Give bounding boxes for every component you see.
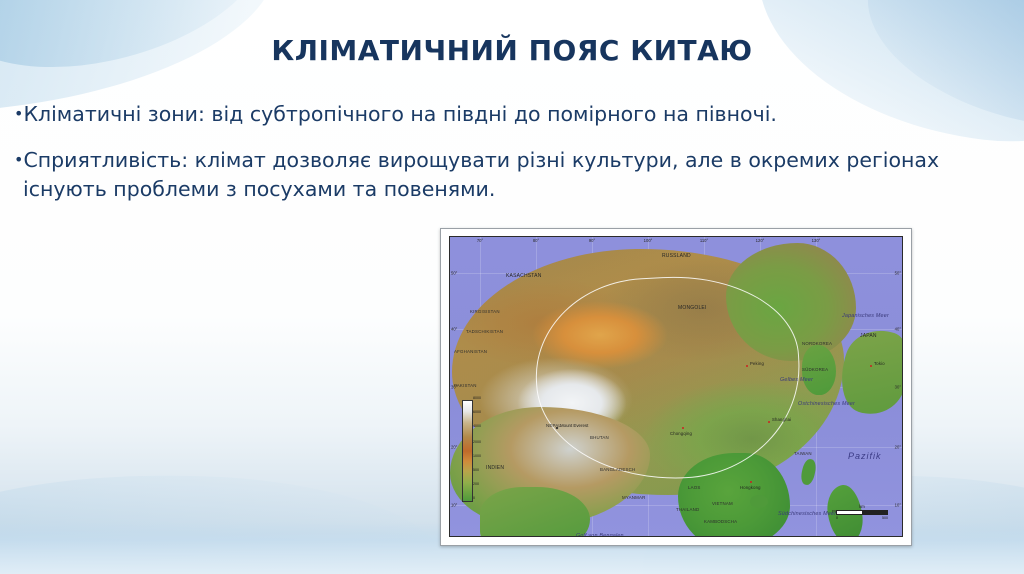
city-label-hongkong: Hongkong [740,485,761,490]
map-image-frame: 70° 80° 90° 100° 110° 120° 130° 50° 40° … [440,228,912,546]
scale-tick: 0 [473,496,475,500]
country-label-russia: RUSSLAND [662,253,691,259]
country-label-bhutan: BHUTAN [590,435,609,440]
sea-label-yellow-sea: Gelbes Meer [780,377,813,383]
lat-tick-label-right: 40° [895,327,901,332]
lat-tick-label-right: 30° [895,385,901,390]
map-canvas: 70° 80° 90° 100° 110° 120° 130° 50° 40° … [450,237,902,536]
country-label-laos: LAOS [688,485,701,490]
sea-label-bay-of-bengal: Golf von Bengalen [576,533,624,536]
peak-label-mount-everest: Mount Everest [560,423,588,428]
lon-tick-label: 100° [644,238,653,243]
scale-tick: 4000 [473,424,481,428]
city-dot-chongqing [682,427,684,429]
lon-tick-label: 130° [812,238,821,243]
country-label-kazakhstan: KASACHSTAN [506,273,542,279]
distance-scale: km 0 500 [836,504,888,520]
sea-label-pacific: Pazifik [848,451,882,461]
scale-tick: 2000 [473,440,481,444]
lat-tick-label: 10° [451,503,457,508]
slide: КЛІМАТИЧНИЙ ПОЯС КИТАЮ •Кліматичні зони:… [0,0,1024,574]
distance-scale-ends: 0 500 [836,516,888,520]
city-label-peking: Peking [750,361,764,366]
country-label-mongolia: MONGOLEI [678,305,707,311]
lon-tick-label: 110° [700,238,708,243]
country-label-cambodia: KAMBODSCHA [704,519,737,524]
country-label-south-korea: SÜDKOREA [802,367,828,372]
lat-tick-label-right: 10° [895,503,901,508]
scale-tick: 200 [473,482,479,486]
elevation-scale-ticks: 8000 6000 4000 2000 1000 500 200 0 [473,402,495,502]
city-label-chongqing: Chongqing [670,431,692,436]
sea-label-east-china-sea: Ostchinesisches Meer [798,401,855,407]
city-dot-hongkong [750,481,752,483]
distance-scale-unit: km [836,504,888,509]
country-label-nepal: NEPAL [546,423,561,428]
lat-tick-label: 20° [451,445,457,450]
bullet-list: •Кліматичні зони: від субтропічного на п… [14,100,1010,221]
country-label-thailand: THAILAND [676,507,699,512]
country-label-afghanistan: AFGHANISTAN [454,349,487,354]
landmass-hainan [750,495,768,508]
list-item: •Кліматичні зони: від субтропічного на п… [14,100,1010,130]
lon-tick-label: 90° [589,238,595,243]
city-label-shanghai: Shanghai [772,417,791,422]
country-label-vietnam: VIETNAM [712,501,733,506]
country-label-japan: JAPAN [860,333,877,339]
elevation-scale-bar [462,400,473,502]
city-dot-shanghai [768,421,770,423]
scale-tick: 8000 [473,396,481,400]
lat-tick-label-right: 20° [895,445,901,450]
sea-label-sea-of-japan: Japanisches Meer [842,313,889,319]
list-item-text: Кліматичні зони: від субтропічного на пі… [23,102,776,126]
lon-tick-label: 80° [533,238,539,243]
distance-scale-bar [836,510,888,515]
lat-tick-label-right: 50° [895,271,901,276]
scale-tick: 6000 [473,410,481,414]
city-dot-peking [746,365,748,367]
lon-tick-label: 70° [477,238,483,243]
map-image: 70° 80° 90° 100° 110° 120° 130° 50° 40° … [449,236,903,537]
list-item: •Сприятливість: клімат дозволяє вирощува… [14,146,1010,205]
city-label-tokio: Tokio [874,361,885,366]
country-label-bangladesh: BANGLADESCH [600,467,635,472]
distance-tick-end: 500 [882,516,888,520]
country-label-taiwan: TAIWAN [794,451,812,456]
lat-tick-label: 40° [451,327,457,332]
sea-label-south-china-sea: Südchinesisches Meer [778,511,836,517]
city-dot-tokio [870,365,872,367]
distance-tick-start: 0 [836,516,838,520]
scale-tick: 500 [473,468,479,472]
list-item-text: Сприятливість: клімат дозволяє вирощуват… [23,148,939,202]
page-title: КЛІМАТИЧНИЙ ПОЯС КИТАЮ [0,34,1024,67]
country-label-pakistan: PAKISTAN [454,383,477,388]
country-label-tajikistan: TADSCHIKISTAN [466,329,503,334]
lon-tick-label: 120° [756,238,765,243]
scale-tick: 1000 [473,454,481,458]
country-label-north-korea: NORDKOREA [802,341,832,346]
lat-tick-label: 50° [451,271,457,276]
country-label-kyrgyzstan: KIRGISISTAN [470,309,500,314]
country-label-myanmar: MYANMAR [622,495,646,500]
